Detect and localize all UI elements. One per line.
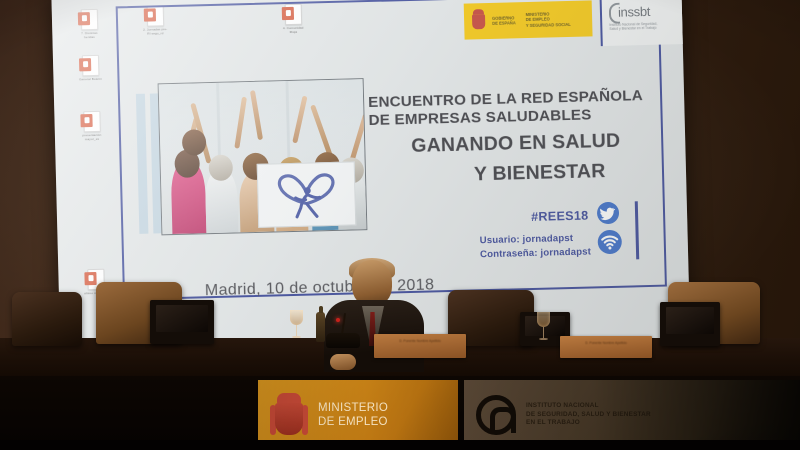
banner-ministerio-text: MINISTERIO DE EMPLEO [318, 401, 388, 430]
slide-subtitle-line-2: Y BIENESTAR [474, 160, 606, 186]
desktop-icon-powerpoint-5[interactable]: presentación mayor_es [78, 111, 105, 142]
banner-instituto-text: INSTITUTO NACIONAL DE SEGURIDAD, SALUD Y… [526, 402, 651, 427]
desktop-icon-powerpoint-4[interactable]: General Boletin [77, 55, 104, 82]
laptop-monitor-right [660, 302, 720, 346]
desktop-icon-powerpoint-1[interactable]: 7. Distintas heridas [76, 9, 103, 40]
wine-glass-left [290, 310, 303, 340]
bottom-shadow [0, 440, 800, 450]
ministerio-logo-text: MINISTERIO DE EMPLEO Y SEGURIDAD SOCIAL [526, 11, 571, 27]
chair-left-2 [12, 292, 82, 346]
presentation-slide: ENCUENTRO DE LA RED ESPAÑOLA DE EMPRESAS… [116, 0, 667, 300]
running-figure-icon [292, 185, 323, 220]
decorative-blue-rule [635, 201, 640, 259]
desktop-icon-label: 7. Distintas heridas [76, 31, 102, 40]
banner-instituto-line-2: DE SEGURIDAD, SALUD Y BIENESTAR [526, 411, 651, 419]
slide-title-line-1: ENCUENTRO DE LA RED ESPAÑOLA [368, 87, 643, 111]
twitter-icon [597, 202, 620, 225]
speaker-hand [330, 354, 356, 370]
powerpoint-icon [80, 9, 98, 30]
banner-ministerio-line-2: DE EMPLEO [318, 415, 388, 430]
name-placard-left: D. Ponente Nombre Apellido [374, 334, 466, 358]
wifi-password-label: Contraseña: jornadapst [480, 246, 591, 260]
inssbt-mark-icon [476, 395, 516, 435]
wifi-icon [597, 230, 622, 255]
powerpoint-icon [81, 55, 99, 76]
desktop-icon-label: General Boletin [77, 77, 103, 82]
inssbt-subtitle-line-2: Salud y Bienestar en el Trabajo [609, 25, 688, 31]
spanish-coat-of-arms-icon [268, 389, 310, 441]
spanish-coat-of-arms-icon [469, 8, 489, 33]
banner-ministerio-line-1: MINISTERIO [318, 401, 388, 416]
conference-photograph: 7. Distintas heridas 2. Jornadas pre- RI… [0, 0, 800, 450]
banner-instituto-line-3: EN EL TRABAJO [526, 419, 651, 427]
ministerio-line-3: Y SEGURIDAD SOCIAL [526, 21, 571, 27]
gobierno-de-espana-logo: GOBIERNO DE ESPAÑA MINISTERIO DE EMPLEO … [464, 0, 593, 39]
slide-subtitle-line-1: GANANDO EN SALUD [411, 130, 621, 158]
banner-instituto-line-1: INSTITUTO NACIONAL [526, 402, 651, 410]
event-hashtag: #REES18 [531, 209, 589, 224]
microphone-led [336, 318, 340, 322]
desktop-icon-label: presentación mayor_es [79, 133, 105, 142]
gobierno-line-2: DE ESPAÑA [492, 20, 516, 26]
name-placard-right: D. Ponente Nombre Apellido [560, 336, 652, 358]
inssbt-logo: inssbt Instituto Nacional de Seguridad, … [600, 0, 689, 46]
gobierno-logo-text: GOBIERNO DE ESPAÑA [492, 15, 516, 26]
water-bottle [316, 312, 325, 342]
inssbt-wordmark: inssbt [609, 3, 688, 20]
inssbt-subtitle: Instituto Nacional de Seguridad, Salud y… [609, 21, 688, 32]
laptop-monitor-left [150, 300, 214, 344]
powerpoint-icon [83, 111, 101, 132]
photo-sign [257, 161, 357, 227]
name-placard-left-text: D. Ponente Nombre Apellido [374, 339, 466, 344]
slide-photo [158, 78, 368, 235]
wifi-user-label: Usuario: jornadapst [480, 233, 574, 246]
name-placard-right-text: D. Ponente Nombre Apellido [560, 341, 652, 346]
microphone [326, 306, 364, 348]
wine-glass-right [537, 312, 550, 342]
